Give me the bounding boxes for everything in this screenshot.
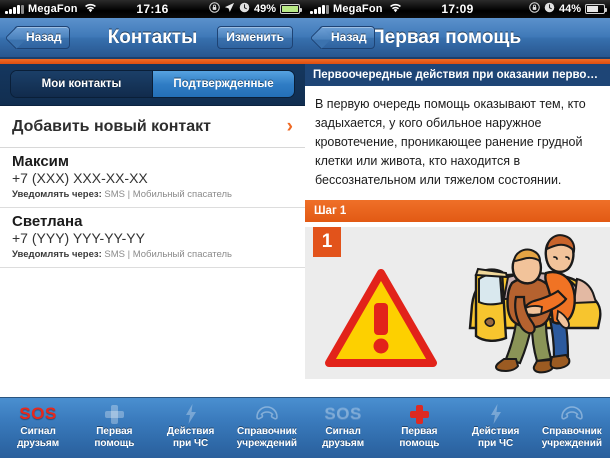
warning-triangle-icon <box>325 269 437 372</box>
rotation-lock-icon <box>209 2 220 16</box>
notify-channels: SMS | Мобильный спасатель <box>104 249 232 260</box>
first-aid-content: Первоочередные действия при оказании пер… <box>305 64 610 379</box>
battery-percent-label: 49% <box>254 3 276 15</box>
location-arrow-icon <box>224 2 235 16</box>
section-title: Первоочередные действия при оказании пер… <box>305 64 610 86</box>
tab-label-line1: Действия <box>472 426 520 437</box>
segmented-control[interactable]: Мои контакты Подтвержденные <box>10 70 295 98</box>
tab-label-line1: Сигнал <box>20 426 56 437</box>
contact-notify: Уведомлять через: SMS | Мобильный спасат… <box>12 248 293 261</box>
lightning-bolt-icon <box>490 403 502 425</box>
tab-bar: SOS Сигнал друзьям Первая помощь Действ <box>305 397 610 458</box>
alarm-clock-icon <box>239 2 250 16</box>
sos-icon: SOS <box>19 403 56 425</box>
status-bar-right: 49% <box>209 2 300 16</box>
contact-name: Максим <box>12 153 293 170</box>
back-button[interactable]: Назад <box>319 26 375 49</box>
tab-label-line1: Первая <box>96 426 132 437</box>
tab-label-line1: Справочник <box>542 426 602 437</box>
intro-paragraph: В первую очередь помощь оказывают тем, к… <box>305 86 610 200</box>
car-accident-rescue-illustration <box>446 227 606 379</box>
alarm-clock-icon <box>544 2 555 16</box>
status-bar-left: MegaFon <box>5 3 97 16</box>
tab-sos-signal[interactable]: SOS Сигнал друзьям <box>305 398 381 458</box>
step-illustration: 1 <box>305 227 610 379</box>
contact-row[interactable]: Светлана +7 (YYY) YYY-YY-YY Уведомлять ч… <box>0 208 305 268</box>
navigation-bar: Назад Первая помощь <box>305 18 610 58</box>
wifi-icon <box>389 3 402 16</box>
tab-my-contacts[interactable]: Мои контакты <box>11 71 152 97</box>
dual-screenshot-container: MegaFon 17:16 49% Назад <box>0 0 610 458</box>
tab-label-line2: помощь <box>399 438 439 449</box>
sos-icon: SOS <box>324 403 361 425</box>
tab-emergency-actions[interactable]: Действия при ЧС <box>153 398 229 458</box>
navigation-bar: Назад Контакты Изменить <box>0 18 305 58</box>
notify-channels: SMS | Мобильный спасатель <box>104 189 232 200</box>
medical-cross-icon <box>410 403 429 425</box>
medical-cross-icon <box>105 403 124 425</box>
page-title: Первая помощь <box>371 27 602 49</box>
right-phone-screen: MegaFon 17:09 44% Назад Первая помощь <box>305 0 610 458</box>
phone-handset-icon <box>255 403 279 425</box>
step-number-badge: 1 <box>313 227 341 257</box>
tab-label-line2: друзьям <box>322 438 364 449</box>
notify-label: Уведомлять через: <box>12 249 102 260</box>
tab-directory[interactable]: Справочник учреждений <box>534 398 610 458</box>
battery-percent-label: 44% <box>559 3 581 15</box>
status-bar: MegaFon 17:09 44% <box>305 0 610 18</box>
add-new-contact-row[interactable]: Добавить новый контакт › <box>0 106 305 148</box>
tab-label-line1: Сигнал <box>325 426 361 437</box>
step-header: Шаг 1 <box>305 200 610 222</box>
tab-label-line1: Справочник <box>237 426 297 437</box>
page-title: Контакты <box>72 27 233 49</box>
signal-bars-icon <box>5 5 24 14</box>
battery-icon <box>585 4 605 14</box>
contact-notify: Уведомлять через: SMS | Мобильный спасат… <box>12 188 293 201</box>
left-phone-screen: MegaFon 17:16 49% Назад <box>0 0 305 458</box>
tab-directory[interactable]: Справочник учреждений <box>229 398 305 458</box>
add-new-contact-label: Добавить новый контакт <box>12 118 287 136</box>
contacts-list: Добавить новый контакт › Максим +7 (XXX)… <box>0 106 305 268</box>
edit-button[interactable]: Изменить <box>217 26 293 49</box>
tab-label-line2: друзьям <box>17 438 59 449</box>
status-bar-left: MegaFon <box>310 3 402 16</box>
status-bar: MegaFon 17:16 49% <box>0 0 305 18</box>
tab-label-line1: Первая <box>401 426 437 437</box>
tab-sos-signal[interactable]: SOS Сигнал друзьям <box>0 398 76 458</box>
contact-phone: +7 (XXX) XXX-XX-XX <box>12 170 293 187</box>
contact-phone: +7 (YYY) YYY-YY-YY <box>12 230 293 247</box>
chevron-right-icon: › <box>287 117 293 136</box>
tab-confirmed-contacts[interactable]: Подтвержденные <box>152 71 294 97</box>
tab-label-line2: при ЧС <box>173 438 208 449</box>
status-bar-right: 44% <box>529 2 605 16</box>
tab-first-aid[interactable]: Первая помощь <box>76 398 152 458</box>
tab-label-line2: учреждений <box>542 438 602 449</box>
rotation-lock-icon <box>529 2 540 16</box>
battery-charging-icon <box>280 4 300 14</box>
wifi-icon <box>84 3 97 16</box>
signal-bars-icon <box>310 5 329 14</box>
lightning-bolt-icon <box>185 403 197 425</box>
tab-bar: SOS Сигнал друзьям Первая помощь Действ <box>0 397 305 458</box>
carrier-label: MegaFon <box>28 3 78 15</box>
segmented-control-bar: Мои контакты Подтвержденные <box>0 64 305 106</box>
tab-label-line2: учреждений <box>237 438 297 449</box>
back-button[interactable]: Назад <box>14 26 70 49</box>
contact-name: Светлана <box>12 213 293 230</box>
contact-row[interactable]: Максим +7 (XXX) XXX-XX-XX Уведомлять чер… <box>0 148 305 208</box>
tab-first-aid[interactable]: Первая помощь <box>381 398 457 458</box>
tab-label-line1: Действия <box>167 426 215 437</box>
phone-handset-icon <box>560 403 584 425</box>
carrier-label: MegaFon <box>333 3 383 15</box>
tab-label-line2: помощь <box>94 438 134 449</box>
tab-label-line2: при ЧС <box>478 438 513 449</box>
tab-emergency-actions[interactable]: Действия при ЧС <box>458 398 534 458</box>
notify-label: Уведомлять через: <box>12 189 102 200</box>
